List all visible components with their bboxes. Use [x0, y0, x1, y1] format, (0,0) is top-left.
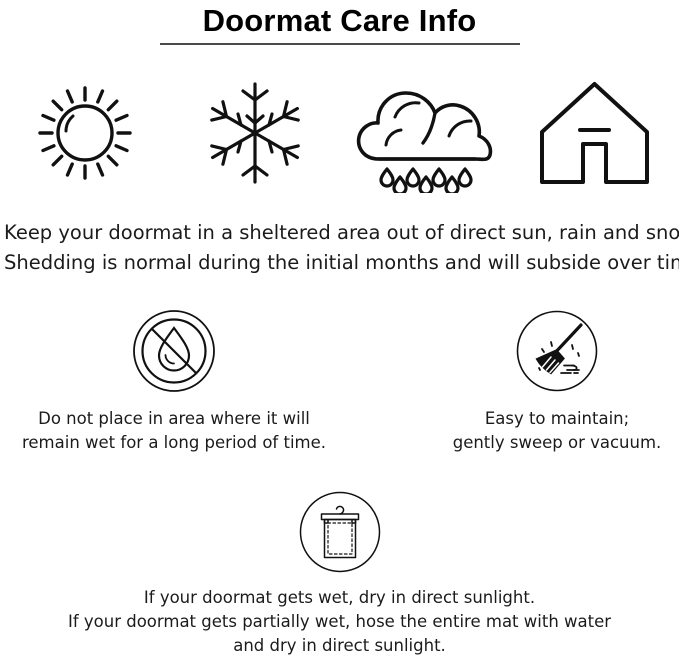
page-title: Doormat Care Info — [0, 2, 679, 40]
broom-icon — [515, 309, 599, 393]
intro-line-2: Shedding is normal during the initial mo… — [4, 248, 679, 278]
care-item-sweep: Easy to maintain; gently sweep or vacuum… — [387, 308, 679, 455]
sun-icon — [30, 78, 140, 188]
broom-icon-wrap — [387, 308, 679, 394]
drying-caption-line-3: and dry in direct sunlight. — [0, 634, 679, 658]
care-item-no-water: Do not place in area where it will remai… — [4, 308, 344, 455]
snowflake-icon — [203, 78, 307, 188]
rain-cloud-icon-cell — [344, 68, 504, 198]
sweep-caption: Easy to maintain; gently sweep or vacuum… — [387, 407, 679, 455]
intro-paragraph: Keep your doormat in a sheltered area ou… — [4, 218, 679, 278]
drying-caption: If your doormat gets wet, dry in direct … — [0, 586, 679, 658]
sweep-caption-line-1: Easy to maintain; — [387, 407, 679, 431]
house-icon-cell — [514, 68, 674, 198]
header: Doormat Care Info — [0, 0, 679, 45]
sun-icon-cell — [5, 68, 165, 198]
snowflake-icon-cell — [175, 68, 335, 198]
no-water-icon — [132, 309, 216, 393]
weather-icon-row — [0, 68, 679, 198]
house-icon — [532, 76, 657, 191]
drying-instructions: If your doormat gets wet, dry in direct … — [0, 488, 679, 658]
intro-line-1: Keep your doormat in a sheltered area ou… — [4, 218, 679, 248]
care-instructions-row: Do not place in area where it will remai… — [0, 308, 679, 458]
hanging-mat-icon-wrap — [0, 488, 679, 576]
no-water-caption-line-1: Do not place in area where it will — [4, 407, 344, 431]
hanging-mat-icon — [298, 490, 382, 574]
drying-caption-line-2: If your doormat gets partially wet, hose… — [0, 610, 679, 634]
title-underline-rule — [160, 43, 520, 45]
no-water-icon-wrap — [4, 308, 344, 394]
rain-cloud-icon — [349, 73, 499, 193]
drying-caption-line-1: If your doormat gets wet, dry in direct … — [0, 586, 679, 610]
sweep-caption-line-2: gently sweep or vacuum. — [387, 431, 679, 455]
no-water-caption-line-2: remain wet for a long period of time. — [4, 431, 344, 455]
no-water-caption: Do not place in area where it will remai… — [4, 407, 344, 455]
